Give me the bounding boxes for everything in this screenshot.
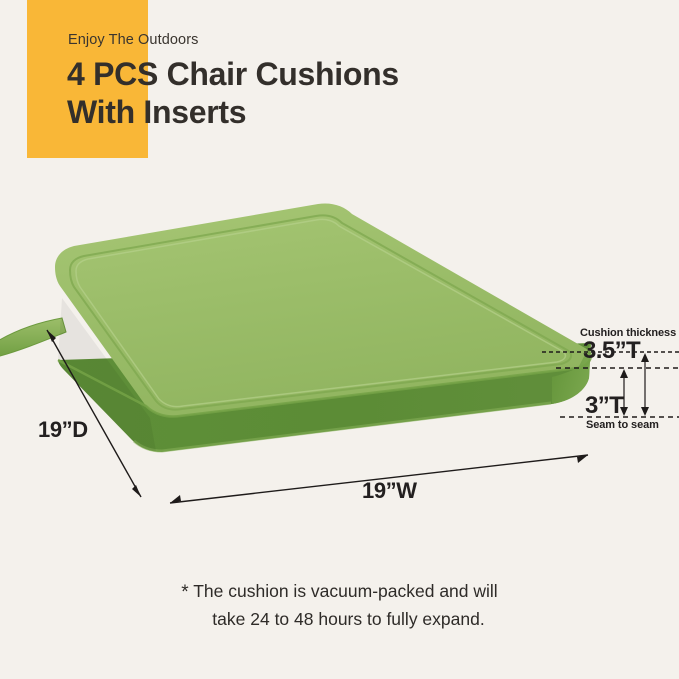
page-title-line-1: 4 PCS Chair Cushions xyxy=(67,56,399,93)
cushion-thickness-value: 3.5”T xyxy=(583,337,640,365)
page-title-line-2: With Inserts xyxy=(67,94,246,131)
product-infographic: Enjoy The Outdoors 4 PCS Chair Cushions … xyxy=(0,0,679,679)
depth-dimension-label: 19”D xyxy=(38,417,88,443)
footnote-line-1: The cushion is vacuum-packed and will xyxy=(193,581,497,601)
footnote: * The cushion is vacuum-packed and will … xyxy=(0,578,679,633)
footnote-star: * xyxy=(181,582,188,603)
width-dimension-label: 19”W xyxy=(362,478,417,504)
footnote-line-2: take 24 to 48 hours to fully expand. xyxy=(0,606,679,633)
eyebrow-text: Enjoy The Outdoors xyxy=(68,32,199,48)
thickness-arrow-outer xyxy=(641,353,649,416)
seam-to-seam-value: 3”T xyxy=(585,392,623,420)
cushion-illustration xyxy=(0,190,679,540)
cushion-tie-strap xyxy=(0,318,66,356)
seam-to-seam-label: Seam to seam xyxy=(586,419,659,431)
